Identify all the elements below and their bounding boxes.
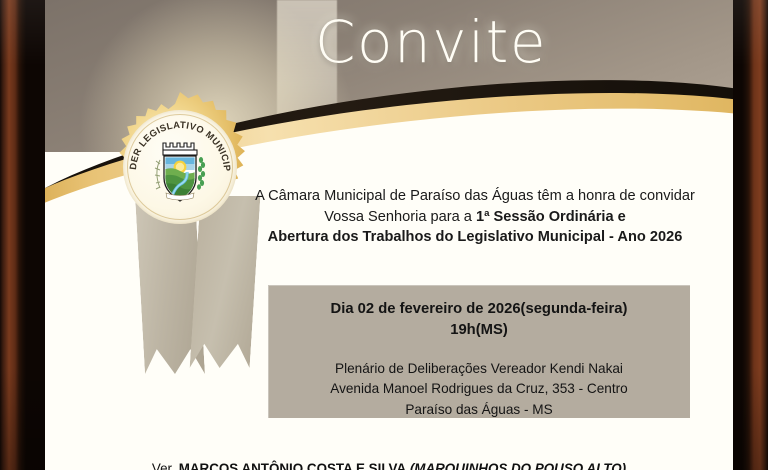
event-date: Dia 02 de fevereiro de 2026(segunda-feir…	[268, 299, 690, 320]
wooden-picture-frame: Convite PODER LEGISLATIVO MUNICIPAL	[0, 0, 768, 470]
signature-name: MARCOS ANTÔNIO COSTA E SILVA	[179, 461, 406, 470]
event-city: Paraíso das Águas - MS	[268, 400, 690, 420]
body-line-2: Vossa Senhoria para a 1ª Sessão Ordinári…	[235, 207, 715, 228]
event-where: Plenário de Deliberações Vereador Kendi …	[268, 342, 690, 420]
body-line-2-emphasis: 1ª Sessão Ordinária e	[476, 209, 626, 225]
invitation-body: A Câmara Municipal de Paraíso das Águas …	[235, 186, 715, 248]
event-details-box: Dia 02 de fevereiro de 2026(segunda-feir…	[268, 285, 690, 418]
signature-line: Ver. MARCOS ANTÔNIO COSTA E SILVA (MARQU…	[45, 461, 733, 470]
page-title: Convite	[315, 8, 715, 76]
body-line-3: Abertura dos Trabalhos do Legislativo Mu…	[235, 227, 715, 248]
signature-nickname: (MARQUINHOS DO POUSO ALTO)	[410, 461, 626, 470]
coat-of-arms-icon	[149, 130, 211, 204]
body-line-2-prefix: Vossa Senhoria para a	[324, 209, 476, 225]
event-address: Avenida Manoel Rodrigues da Cruz, 353 - …	[268, 379, 690, 399]
event-time: 19h(MS)	[268, 320, 690, 341]
official-seal: PODER LEGISLATIVO MUNICIPAL	[105, 92, 255, 242]
signature-role: Ver.	[152, 461, 179, 470]
event-when: Dia 02 de fevereiro de 2026(segunda-feir…	[268, 285, 690, 342]
body-line-1: A Câmara Municipal de Paraíso das Águas …	[235, 186, 715, 207]
invitation-card: Convite PODER LEGISLATIVO MUNICIPAL	[45, 0, 733, 470]
event-venue: Plenário de Deliberações Vereador Kendi …	[268, 359, 690, 379]
